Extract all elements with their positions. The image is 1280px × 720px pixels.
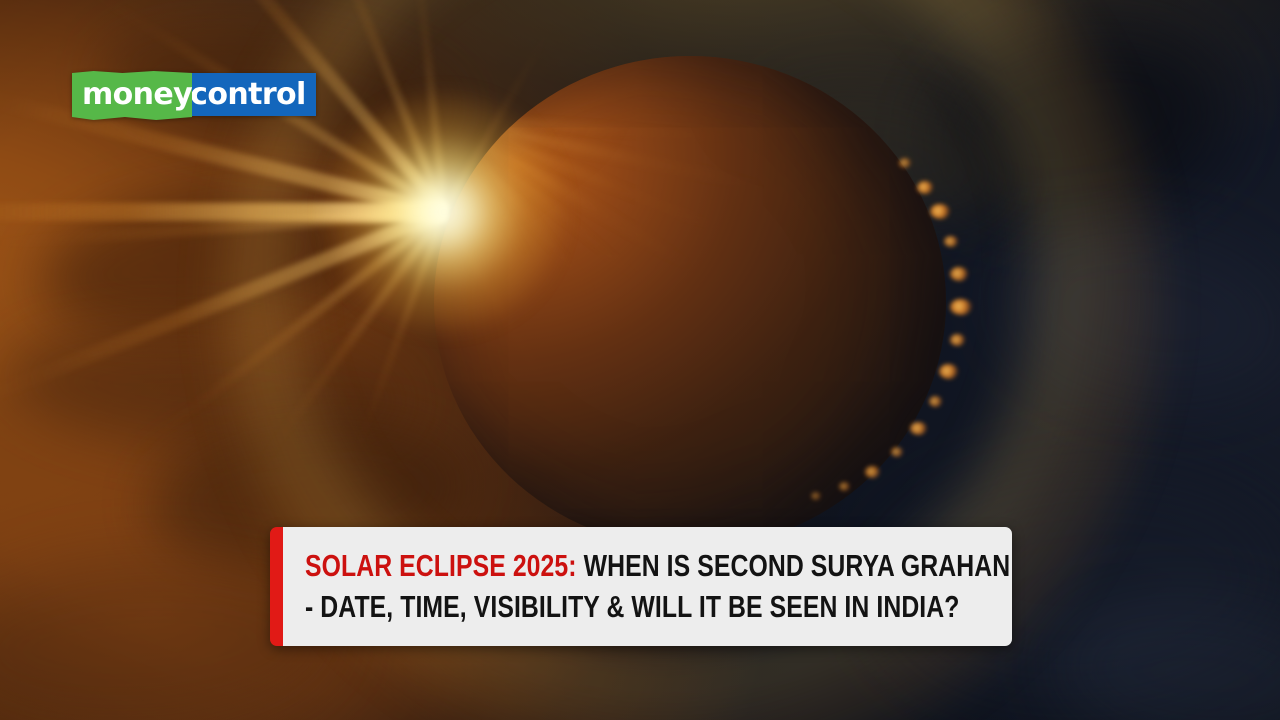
- solar-prominence: [917, 181, 933, 194]
- solar-prominence: [944, 236, 958, 247]
- headline-line-1: SOLAR ECLIPSE 2025: WHEN IS SECOND SURYA…: [305, 546, 1010, 586]
- eclipse-news-card: money control SOLAR ECLIPSE 2025: WHEN I…: [0, 0, 1280, 720]
- headline-line-2: - DATE, TIME, VISIBILITY & WILL IT BE SE…: [305, 587, 1010, 627]
- solar-prominence: [950, 299, 972, 315]
- solar-prominence: [929, 396, 942, 407]
- logo-word-money: money: [82, 80, 192, 110]
- headline-banner[interactable]: SOLAR ECLIPSE 2025: WHEN IS SECOND SURYA…: [270, 527, 1012, 646]
- logo-blue-block: control: [190, 73, 316, 116]
- solar-prominence: [950, 267, 968, 281]
- solar-prominence: [839, 482, 850, 491]
- solar-prominence: [910, 422, 927, 435]
- solar-prominence: [930, 204, 950, 219]
- solar-prominence: [950, 334, 965, 346]
- headline-kicker: SOLAR ECLIPSE 2025:: [305, 548, 577, 583]
- headline-text-block: SOLAR ECLIPSE 2025: WHEN IS SECOND SURYA…: [283, 527, 1012, 646]
- logo-word-control: control: [190, 80, 306, 110]
- moneycontrol-logo[interactable]: money control: [72, 70, 316, 120]
- solar-prominence: [865, 466, 880, 478]
- solar-prominence: [939, 364, 958, 379]
- solar-prominence: [811, 492, 821, 500]
- logo-green-banner: money: [72, 70, 192, 120]
- solar-prominence: [899, 158, 911, 168]
- headline-accent-bar: [270, 527, 283, 646]
- headline-line-1-rest: WHEN IS SECOND SURYA GRAHAN: [577, 548, 1011, 583]
- solar-prominence: [891, 447, 903, 457]
